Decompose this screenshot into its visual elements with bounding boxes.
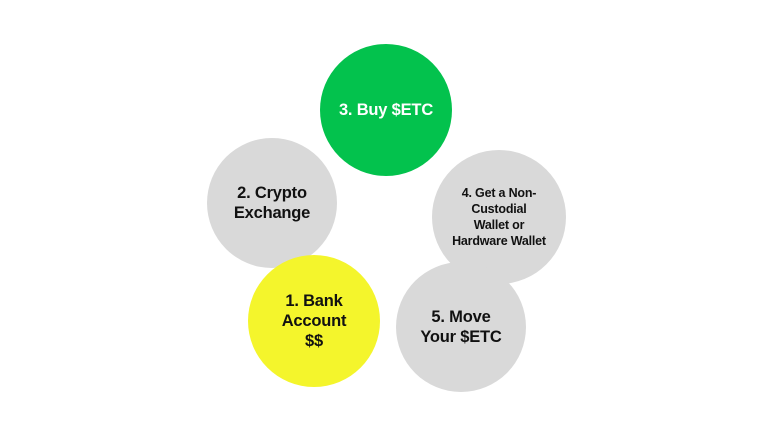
node-move-etc-label: 5. Move Your $ETC xyxy=(414,307,507,347)
node-buy-etc-label: 3. Buy $ETC xyxy=(333,100,439,120)
node-crypto-exchange[interactable]: 2. Crypto Exchange xyxy=(207,138,337,268)
node-crypto-exchange-label: 2. Crypto Exchange xyxy=(228,183,316,223)
diagram-canvas: 1. Bank Account $$ 2. Crypto Exchange 3.… xyxy=(0,0,780,437)
node-bank-account-label: 1. Bank Account $$ xyxy=(276,291,353,351)
node-bank-account[interactable]: 1. Bank Account $$ xyxy=(248,255,380,387)
node-buy-etc[interactable]: 3. Buy $ETC xyxy=(320,44,452,176)
node-move-etc[interactable]: 5. Move Your $ETC xyxy=(396,262,526,392)
node-get-wallet-label: 4. Get a Non-Custodial Wallet or Hardwar… xyxy=(432,185,566,250)
